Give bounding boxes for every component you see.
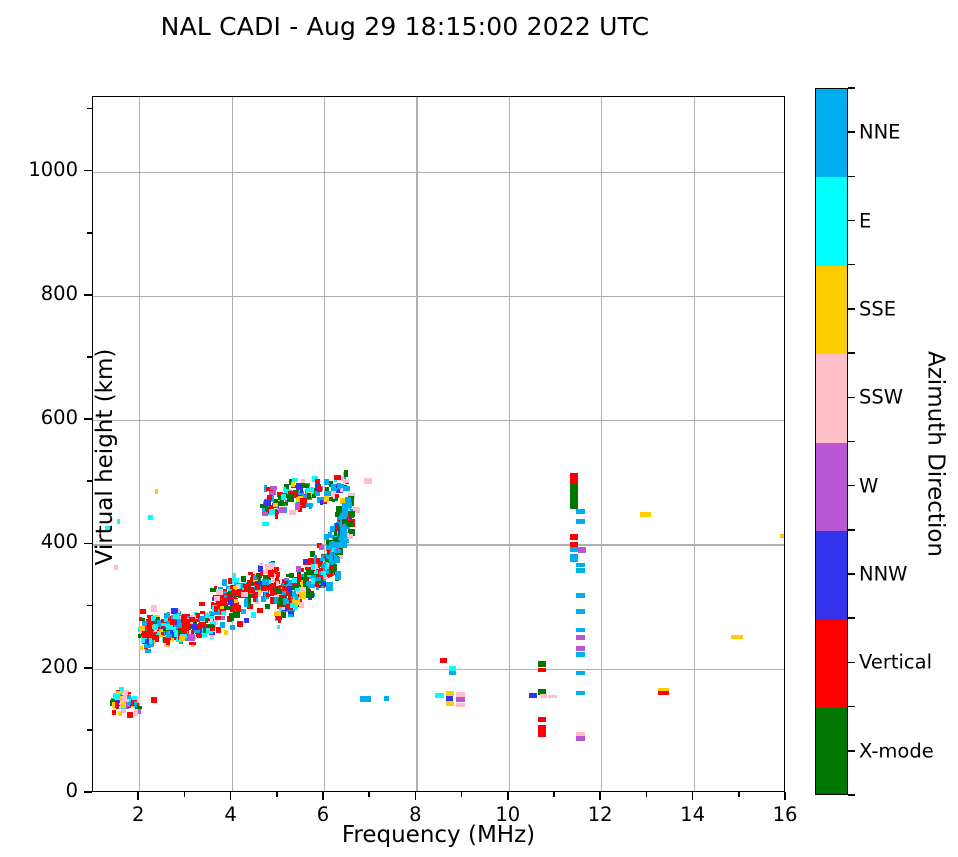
gridline-vertical <box>232 97 233 791</box>
data-mark <box>187 619 190 624</box>
colorbar-segment <box>816 89 847 178</box>
data-mark <box>309 504 312 509</box>
ionogram-figure: NAL CADI - Aug 29 18:15:00 2022 UTC 0200… <box>0 0 958 857</box>
x-axis-minor-tick <box>461 792 463 797</box>
data-mark <box>289 510 295 515</box>
data-mark <box>538 668 545 672</box>
x-axis-minor-tick <box>276 792 278 797</box>
colorbar-label-nnw: NNW <box>859 563 907 586</box>
y-axis-tick <box>84 791 92 793</box>
colorbar-boundary-tick <box>848 87 855 89</box>
data-mark <box>248 572 253 576</box>
data-mark <box>262 512 269 515</box>
data-mark <box>256 573 260 577</box>
data-mark <box>576 628 584 632</box>
data-mark <box>570 483 578 509</box>
data-mark <box>224 606 231 610</box>
data-mark <box>253 596 257 601</box>
data-mark <box>548 695 557 698</box>
x-axis-minor-tick <box>184 792 186 797</box>
data-mark <box>305 567 310 570</box>
data-mark <box>189 642 195 646</box>
data-mark <box>268 570 274 577</box>
y-axis-tick-label: 1000 <box>8 158 78 181</box>
data-mark <box>283 487 286 491</box>
data-mark <box>145 649 150 652</box>
data-mark <box>161 632 164 636</box>
data-mark <box>291 482 295 487</box>
data-mark <box>296 566 301 572</box>
gridline-vertical <box>324 97 325 791</box>
data-mark <box>134 709 139 716</box>
colorbar-tick <box>848 131 855 133</box>
data-mark <box>384 696 390 701</box>
data-mark <box>232 589 235 594</box>
data-mark <box>307 493 311 499</box>
colorbar-tick <box>848 662 855 664</box>
data-mark <box>200 622 206 626</box>
data-mark <box>731 635 743 639</box>
data-mark <box>311 564 315 570</box>
data-mark <box>224 595 227 598</box>
data-mark <box>780 534 785 538</box>
data-mark <box>570 534 578 540</box>
data-mark <box>155 489 158 495</box>
data-mark <box>658 690 668 695</box>
data-mark <box>191 624 197 629</box>
gridline-horizontal <box>93 420 784 421</box>
data-mark <box>181 628 187 634</box>
data-mark <box>179 636 185 641</box>
data-mark <box>304 572 307 579</box>
data-mark <box>234 599 238 603</box>
colorbar-boundary-tick <box>848 176 855 178</box>
data-mark <box>248 599 251 606</box>
gridline-horizontal <box>93 172 784 173</box>
data-mark <box>335 497 338 501</box>
data-mark <box>241 592 249 597</box>
colorbar <box>815 88 848 795</box>
data-mark <box>139 646 144 650</box>
y-axis-tick-label: 0 <box>8 779 78 802</box>
plot-area <box>92 96 785 792</box>
data-mark <box>300 488 303 493</box>
x-axis-tick <box>692 792 694 800</box>
data-mark <box>329 542 335 548</box>
data-mark <box>299 602 304 608</box>
colorbar-boundary-tick <box>848 617 855 619</box>
data-mark <box>232 578 238 584</box>
data-mark <box>221 616 225 620</box>
data-mark <box>343 486 350 490</box>
data-mark <box>259 563 263 567</box>
data-mark <box>151 697 157 703</box>
colorbar-title: Azimuth Direction <box>923 101 949 808</box>
data-mark <box>283 502 288 505</box>
colorbar-boundary-tick <box>848 706 855 708</box>
data-mark <box>194 630 199 633</box>
data-mark <box>317 485 321 492</box>
x-axis-minor-tick <box>368 792 370 797</box>
data-mark <box>290 603 296 608</box>
data-mark <box>217 602 220 609</box>
data-mark <box>228 600 235 605</box>
colorbar-tick <box>848 485 855 487</box>
data-mark <box>330 565 333 570</box>
data-mark <box>288 595 291 599</box>
data-mark <box>151 605 156 612</box>
x-axis-label: Frequency (MHz) <box>92 822 785 848</box>
data-mark <box>576 563 584 567</box>
data-mark <box>220 622 225 628</box>
x-axis-tick <box>230 792 232 800</box>
y-axis-tick <box>84 667 92 669</box>
colorbar-tick <box>848 220 855 222</box>
data-mark <box>302 484 309 487</box>
colorbar-boundary-tick <box>848 352 855 354</box>
data-mark <box>576 593 584 597</box>
data-mark <box>166 638 170 645</box>
x-axis-minor-tick <box>553 792 555 797</box>
data-mark <box>170 630 173 634</box>
colorbar-segment <box>816 619 847 708</box>
data-mark <box>127 712 133 719</box>
data-mark <box>315 577 321 582</box>
data-mark <box>456 697 465 702</box>
data-mark <box>241 576 247 582</box>
x-axis-minor-tick <box>646 792 648 797</box>
data-mark <box>189 617 195 623</box>
data-mark <box>446 701 453 706</box>
data-mark <box>153 624 157 630</box>
colorbar-boundary-tick <box>848 794 855 796</box>
colorbar-label-nne: NNE <box>859 121 901 144</box>
data-mark <box>276 581 279 586</box>
gridline-vertical <box>139 97 140 791</box>
data-mark <box>188 634 195 640</box>
data-mark <box>343 479 349 484</box>
data-mark <box>277 625 280 629</box>
data-mark <box>319 545 324 550</box>
data-mark <box>640 512 651 516</box>
data-mark <box>153 635 156 639</box>
colorbar-segment <box>816 708 847 795</box>
data-mark <box>570 554 578 563</box>
page-title: NAL CADI - Aug 29 18:15:00 2022 UTC <box>0 12 810 41</box>
y-axis-tick-label: 800 <box>8 282 78 305</box>
data-mark <box>262 579 268 584</box>
colorbar-boundary-tick <box>848 264 855 266</box>
data-mark <box>576 691 584 695</box>
data-mark <box>346 521 353 527</box>
x-axis-tick <box>507 792 509 800</box>
data-mark <box>170 619 175 624</box>
gridline-vertical <box>694 97 695 791</box>
data-mark <box>342 503 348 517</box>
data-mark <box>658 688 668 691</box>
data-mark <box>208 624 214 629</box>
data-mark <box>286 574 293 577</box>
data-mark <box>142 631 146 638</box>
x-axis-tick <box>137 792 139 800</box>
data-mark <box>221 611 226 615</box>
y-axis-tick <box>84 294 92 296</box>
data-mark <box>318 563 323 567</box>
gridline-horizontal <box>93 669 784 670</box>
data-mark <box>345 497 351 506</box>
data-mark <box>529 693 536 698</box>
data-mark <box>281 494 287 500</box>
y-axis-label: Virtual height (km) <box>92 109 118 805</box>
data-mark <box>122 702 126 708</box>
data-mark <box>335 571 341 581</box>
data-mark <box>299 592 306 599</box>
data-mark <box>230 625 235 631</box>
y-axis-tick-label: 400 <box>8 530 78 553</box>
data-mark <box>538 717 545 721</box>
data-mark <box>538 661 545 667</box>
y-axis-tick <box>84 543 92 545</box>
data-mark <box>236 605 241 612</box>
data-mark <box>244 618 249 623</box>
data-mark <box>334 475 341 480</box>
data-mark <box>328 532 332 538</box>
colorbar-segment <box>816 443 847 532</box>
x-axis-minor-tick <box>738 792 740 797</box>
data-mark <box>576 671 584 675</box>
data-mark <box>576 736 584 741</box>
data-mark <box>237 621 243 627</box>
data-mark <box>174 630 178 637</box>
data-mark <box>276 590 281 593</box>
data-mark <box>435 693 443 698</box>
data-mark <box>576 609 584 613</box>
data-mark <box>334 531 337 536</box>
colorbar-segment <box>816 531 847 620</box>
data-mark <box>340 526 346 547</box>
data-mark <box>279 607 283 610</box>
data-mark <box>364 478 372 484</box>
data-mark <box>456 703 465 707</box>
data-mark <box>214 596 220 601</box>
data-mark <box>540 694 547 698</box>
y-axis-tick-label: 600 <box>8 406 78 429</box>
data-mark <box>576 509 584 514</box>
x-axis-tick <box>415 792 417 800</box>
data-mark <box>199 602 204 606</box>
data-mark <box>266 593 269 597</box>
x-axis-tick <box>599 792 601 800</box>
data-mark <box>264 500 271 506</box>
data-mark <box>142 621 147 626</box>
colorbar-segment <box>816 266 847 355</box>
data-mark <box>576 635 584 640</box>
data-mark <box>140 609 146 615</box>
data-mark <box>576 646 584 651</box>
data-mark <box>274 611 281 616</box>
y-axis-tick <box>84 170 92 172</box>
data-mark <box>255 584 260 590</box>
colorbar-tick <box>848 750 855 752</box>
data-mark <box>262 522 268 526</box>
data-mark <box>286 591 289 595</box>
gridline-vertical <box>416 97 417 791</box>
data-mark <box>578 547 586 553</box>
gridline-vertical <box>601 97 602 791</box>
data-mark <box>538 725 545 737</box>
data-mark <box>576 568 584 572</box>
data-mark <box>230 585 233 590</box>
data-mark <box>148 515 153 520</box>
gridline-vertical <box>509 97 510 791</box>
data-mark <box>360 696 370 702</box>
data-mark <box>334 549 341 553</box>
data-mark <box>229 613 234 620</box>
data-mark <box>326 582 332 591</box>
data-mark <box>440 658 447 664</box>
data-mark <box>292 583 297 586</box>
colorbar-label-w: W <box>859 474 878 497</box>
data-mark <box>295 594 299 599</box>
data-mark <box>283 598 289 604</box>
data-mark <box>118 711 122 717</box>
data-mark <box>288 611 293 615</box>
data-mark <box>324 479 330 485</box>
data-mark <box>246 583 249 587</box>
data-mark <box>241 609 246 615</box>
data-mark <box>197 634 201 638</box>
data-mark <box>273 503 278 506</box>
data-mark <box>209 616 214 620</box>
colorbar-segment <box>816 177 847 266</box>
data-mark <box>228 578 232 584</box>
data-mark <box>344 470 348 476</box>
colorbar-tick <box>848 573 855 575</box>
gridline-horizontal <box>93 296 784 297</box>
data-mark <box>324 491 331 496</box>
colorbar-tick <box>848 308 855 310</box>
colorbar-tick <box>848 397 855 399</box>
data-mark <box>251 612 256 618</box>
data-mark <box>306 591 313 598</box>
colorbar-label-ssw: SSW <box>859 386 903 409</box>
data-mark <box>251 582 254 586</box>
data-mark <box>334 555 338 558</box>
data-mark <box>278 508 285 514</box>
data-mark <box>301 479 304 482</box>
gridline-horizontal <box>93 544 784 545</box>
colorbar-boundary-tick <box>848 529 855 531</box>
data-mark <box>267 495 272 499</box>
data-mark <box>216 589 222 595</box>
data-mark <box>265 604 270 609</box>
colorbar-label-sse: SSE <box>859 297 896 320</box>
data-mark <box>306 570 313 575</box>
data-mark <box>329 554 333 560</box>
data-mark <box>270 486 277 490</box>
data-mark <box>576 519 584 524</box>
data-mark <box>261 584 267 591</box>
y-axis-tick <box>84 418 92 420</box>
x-axis-tick <box>322 792 324 800</box>
data-mark <box>284 581 287 584</box>
data-mark <box>260 571 263 575</box>
colorbar-label-vertical: Vertical <box>859 651 932 674</box>
data-mark <box>300 498 307 503</box>
data-mark <box>297 573 301 580</box>
data-mark <box>294 491 299 497</box>
data-mark <box>320 500 323 505</box>
data-mark <box>274 567 279 571</box>
data-mark <box>257 608 263 614</box>
colorbar-segment <box>816 354 847 443</box>
data-mark <box>134 701 137 707</box>
data-mark <box>224 630 229 635</box>
data-mark <box>216 627 222 633</box>
data-mark <box>449 671 457 675</box>
data-mark <box>203 628 206 634</box>
data-mark <box>576 652 584 656</box>
x-axis-tick <box>784 792 786 800</box>
colorbar-label-e: E <box>859 209 871 232</box>
data-mark <box>127 695 131 699</box>
y-axis-tick-label: 200 <box>8 655 78 678</box>
data-mark <box>149 638 152 644</box>
colorbar-boundary-tick <box>848 441 855 443</box>
data-mark <box>337 483 341 489</box>
